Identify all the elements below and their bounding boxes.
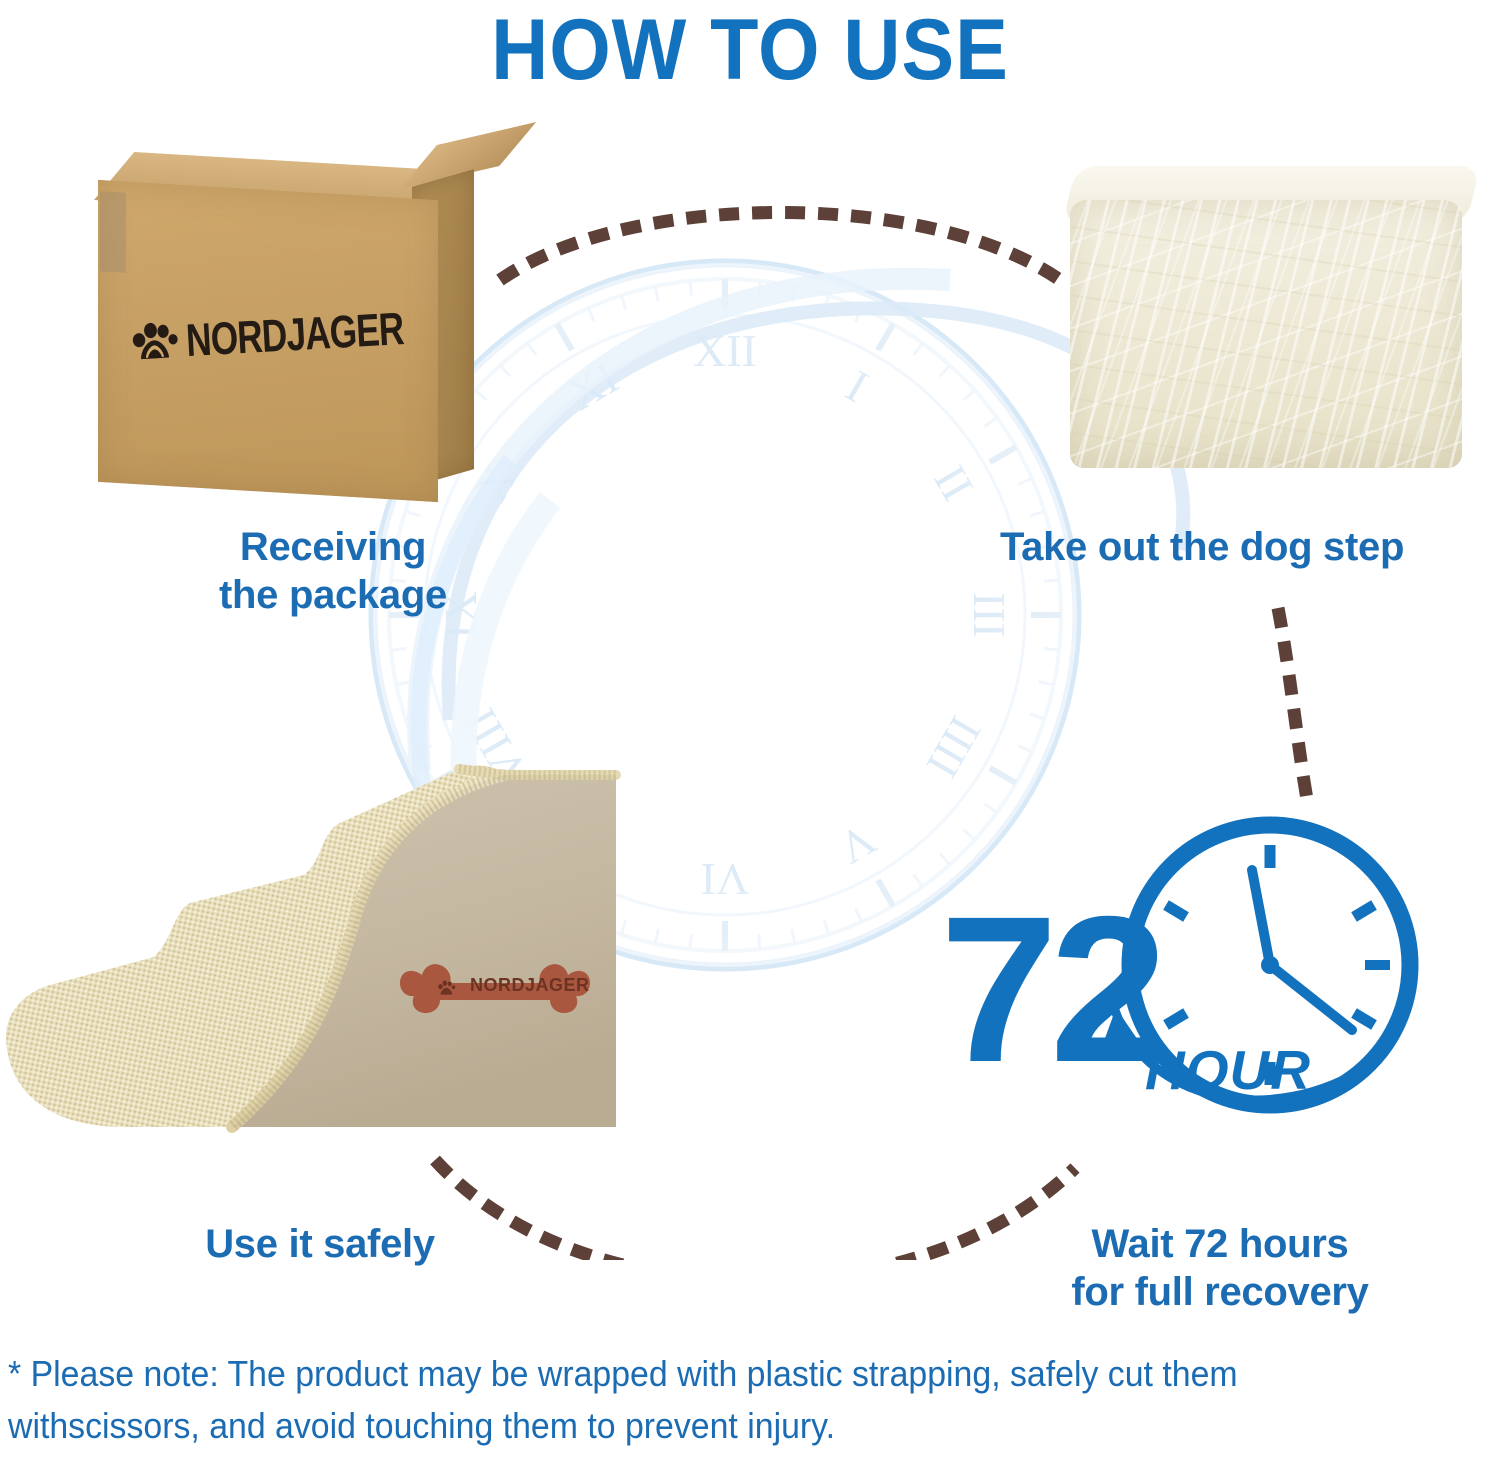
connector-top-arc [480, 180, 1080, 300]
footnote-marker: * [8, 1353, 21, 1394]
dog-step-image: NORDJAGER [4, 735, 644, 1155]
svg-text:I: I [838, 360, 877, 412]
svg-text:II: II [924, 457, 983, 509]
svg-text:VI: VI [701, 854, 750, 905]
clock-badge-number: 72 [940, 886, 1160, 1094]
plastic-wrap-sheen [1070, 200, 1462, 468]
infographic-page: IIIIIIIIIIVVIVIIVIIIIXXXIXII HOW TO USE [0, 0, 1500, 1457]
clock-hands [1252, 870, 1352, 1030]
svg-text:XII: XII [693, 325, 757, 376]
svg-text:III: III [964, 592, 1015, 638]
step-label-wait: Wait 72 hours for full recovery [1010, 1220, 1430, 1316]
footnote: * Please note: The product may be wrappe… [8, 1348, 1399, 1452]
step-label-receiving: Receiving the package [138, 523, 528, 619]
svg-text:XI: XI [559, 352, 627, 420]
connector-right-line [1250, 600, 1340, 815]
box-tape [100, 191, 126, 273]
step-label-take-out: Take out the dog step [1000, 523, 1498, 571]
step-label-use-safely: Use it safely [90, 1220, 550, 1268]
footnote-text: Please note: The product may be wrapped … [8, 1353, 1238, 1446]
svg-text:V: V [830, 814, 884, 875]
page-title: HOW TO USE [60, 2, 1440, 98]
cardboard-box-image: NORDJAGER [70, 142, 500, 512]
clock-badge-unit: HOUR [1145, 1038, 1311, 1102]
foam-front-face [1070, 200, 1462, 468]
bone-tag-text: NORDJAGER [470, 975, 590, 995]
paw-print-icon [131, 321, 179, 366]
svg-text:IIII: IIII [917, 708, 992, 787]
72-hour-clock-badge: 72 HOUR [940, 800, 1440, 1180]
plastic-wrapped-foam-image [1048, 156, 1480, 486]
